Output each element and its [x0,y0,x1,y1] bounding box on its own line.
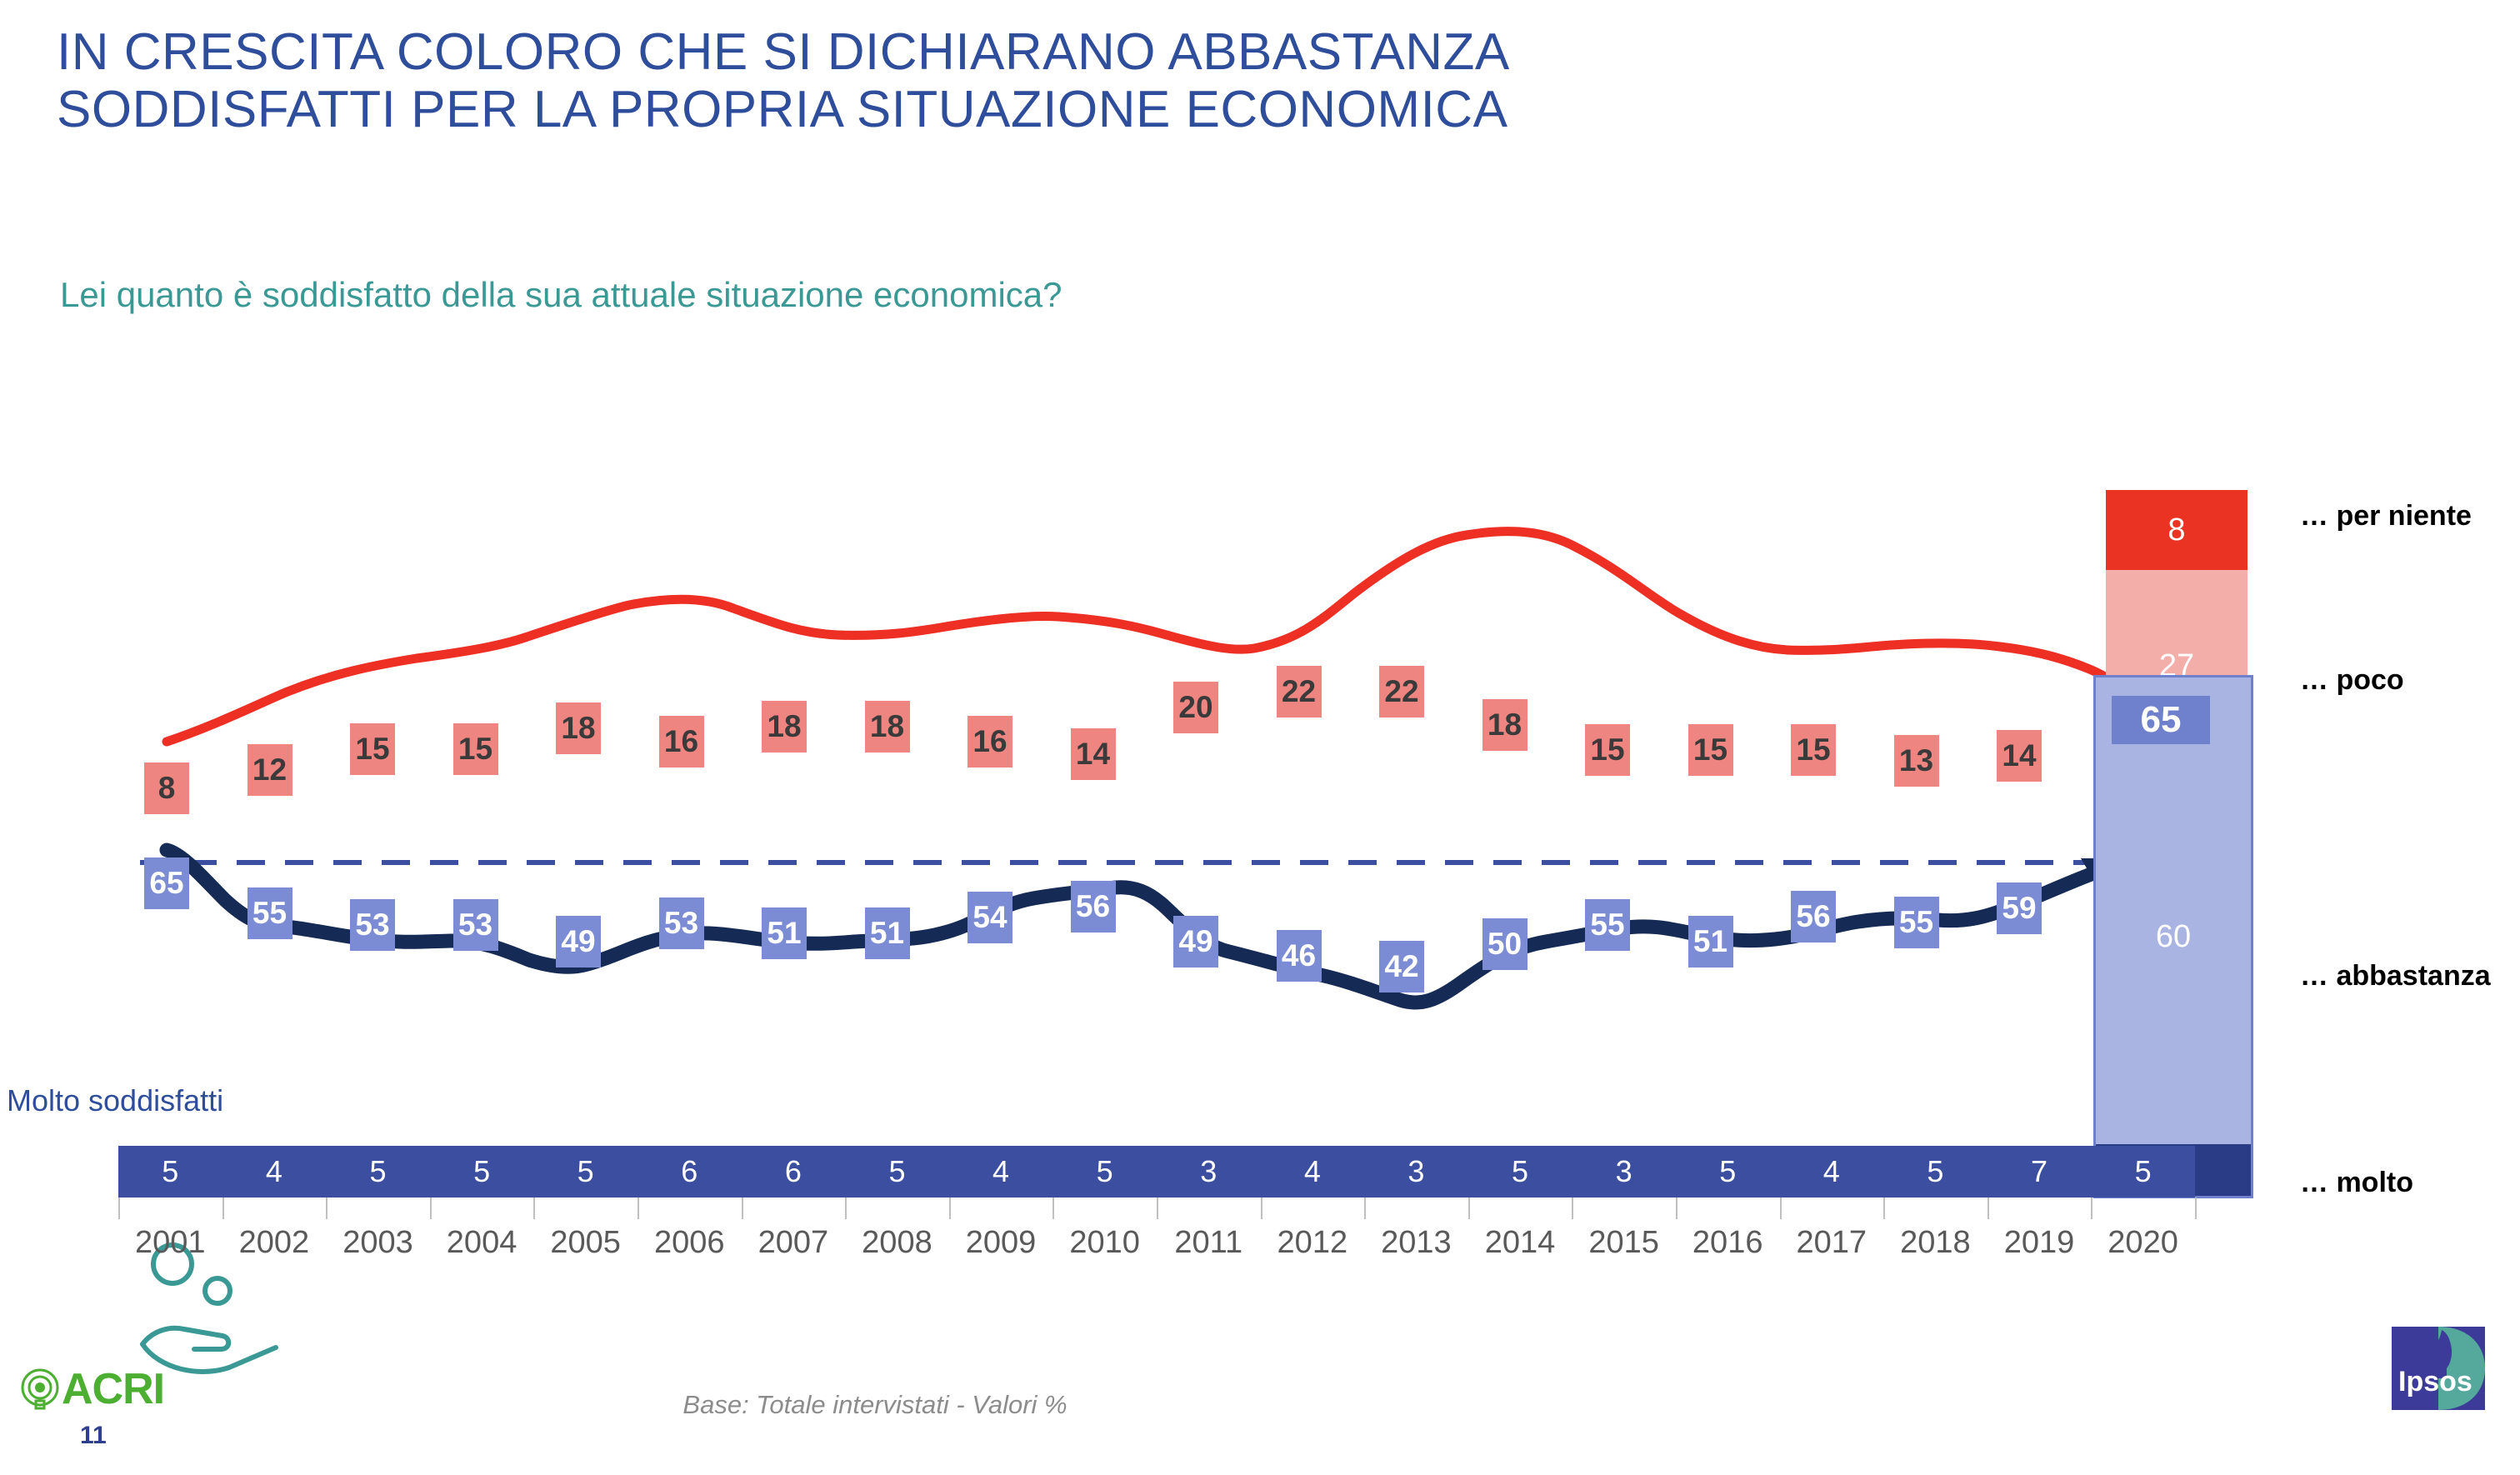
axis-tick [1987,1197,1989,1219]
molto-value-cell: 5 [118,1146,222,1197]
question-subtitle: Lei quanto è soddisfatto della sua attua… [60,275,1062,315]
navy-value-chip: 53 [350,899,395,951]
navy-value-chip: 49 [556,916,601,967]
x-axis-year-label: 2008 [845,1225,949,1275]
ipsos-wordmark: Ipsos [2398,1366,2472,1398]
axis-tick [2195,1197,2197,1219]
page-number: 11 [80,1422,107,1450]
axis-tick [742,1197,743,1219]
molto-value-cell: 5 [1052,1146,1157,1197]
molto-value-cell: 7 [1987,1146,2092,1197]
red-value-chip: 14 [1997,730,2042,782]
molto-value-cell: 4 [1780,1146,1884,1197]
axis-tick [326,1197,327,1219]
legend-molto: … molto [2300,1167,2413,1199]
molto-value-cell: 6 [637,1146,742,1197]
x-axis-year-label: 2014 [1468,1225,1572,1275]
navy-value-chip: 53 [453,899,498,951]
x-axis-year-label: 2012 [1261,1225,1365,1275]
red-value-chip: 15 [1688,724,1733,776]
axis-tick [118,1197,120,1219]
x-axis-year-label: 2009 [949,1225,1053,1275]
axis-tick [1468,1197,1470,1219]
x-axis-year-label: 2007 [742,1225,846,1275]
axis-tick [1883,1197,1885,1219]
x-axis-year-label: 2013 [1364,1225,1468,1275]
ipsos-logo: Ipsos [2392,1327,2485,1410]
bar-segment-abbastanza-container: 60 5 [2093,675,2253,1198]
molto-value-cell: 5 [1676,1146,1780,1197]
red-value-chip: 18 [1482,699,1527,751]
x-axis-years: 2001200220032004200520062007200820092010… [118,1225,2195,1275]
molto-value-cell: 5 [2091,1146,2195,1197]
axis-ticks [118,1197,2195,1219]
navy-value-chip: 42 [1379,941,1424,992]
axis-tick [430,1197,432,1219]
red-value-chip: 13 [1894,735,1939,787]
molto-value-cell: 5 [1468,1146,1572,1197]
red-value-chip: 15 [1791,724,1836,776]
x-axis-year-label: 2015 [1572,1225,1676,1275]
red-value-chip: 22 [1379,666,1424,717]
axis-tick [2091,1197,2092,1219]
x-axis-year-label: 2016 [1676,1225,1780,1275]
navy-value-chip: 56 [1791,891,1836,942]
molto-value-cell: 4 [222,1146,327,1197]
navy-value-chip: 65 [144,857,189,909]
red-value-chip: 20 [1173,682,1218,733]
x-axis-year-label: 2006 [637,1225,742,1275]
molto-value-cell: 4 [1261,1146,1365,1197]
axis-tick [845,1197,847,1219]
molto-value-cell: 3 [1364,1146,1468,1197]
x-axis-year-label: 2004 [430,1225,534,1275]
axis-tick [1052,1197,1054,1219]
navy-value-chip: 49 [1173,916,1218,967]
x-axis-year-label: 2003 [326,1225,430,1275]
bar-total-positive-label: 65 [2112,696,2210,744]
navy-value-chip: 55 [1585,899,1630,951]
navy-value-chip: 59 [1997,882,2042,934]
molto-soddisfatti-label: Molto soddisfatti [7,1083,223,1118]
red-value-chip: 16 [967,716,1012,767]
axis-tick [222,1197,224,1219]
navy-value-chip: 51 [1688,916,1733,967]
navy-value-chip: 56 [1071,881,1116,932]
red-value-chip: 12 [247,744,292,796]
x-axis-year-label: 2020 [2091,1225,2195,1275]
navy-value-chip: 51 [865,907,910,959]
red-value-chip: 8 [144,762,189,814]
bar-segment-abbastanza: 60 [2096,677,2251,1196]
molto-value-cell: 5 [1883,1146,1987,1197]
x-axis-year-label: 2017 [1780,1225,1884,1275]
navy-value-chip: 53 [659,897,704,949]
red-value-chip: 18 [556,702,601,754]
x-axis-year-label: 2018 [1883,1225,1987,1275]
navy-value-chip: 55 [1894,897,1939,948]
molto-value-cell: 4 [949,1146,1053,1197]
page-title: IN CRESCITA COLORO CHE SI DICHIARANO ABB… [57,23,2348,139]
bar-segment-per-niente: 8 [2106,490,2247,570]
x-axis-year-label: 2002 [222,1225,327,1275]
molto-value-cell: 5 [326,1146,430,1197]
molto-value-cell: 5 [533,1146,637,1197]
axis-tick [949,1197,951,1219]
molto-values-band: 54555665453435354575 [118,1146,2195,1197]
red-value-chip: 15 [350,723,395,775]
legend-per-niente: … per niente [2300,500,2472,532]
red-value-chip: 18 [865,701,910,752]
axis-tick [1780,1197,1782,1219]
red-value-chip: 15 [453,723,498,775]
x-axis-year-label: 2019 [1987,1225,2092,1275]
x-axis-year-label: 2011 [1157,1225,1261,1275]
molto-value-cell: 3 [1572,1146,1676,1197]
navy-value-chip: 50 [1482,918,1527,970]
axis-tick [1676,1197,1677,1219]
axis-tick [1572,1197,1573,1219]
navy-value-chip: 46 [1277,930,1322,982]
red-value-chip: 18 [762,701,807,752]
red-value-chip: 16 [659,716,704,767]
axis-tick [533,1197,535,1219]
x-axis-year-label: 2001 [118,1225,222,1275]
legend-poco: … poco [2300,664,2404,697]
navy-value-chip: 54 [967,892,1012,943]
molto-value-cell: 5 [430,1146,534,1197]
red-value-chip: 15 [1585,724,1630,776]
legend-abbastanza: … abbastanza [2300,960,2491,992]
title-line-1: IN CRESCITA COLORO CHE SI DICHIARANO ABB… [57,23,1510,81]
red-value-chip: 22 [1277,666,1322,717]
axis-tick [1261,1197,1262,1219]
slide: IN CRESCITA COLORO CHE SI DICHIARANO ABB… [0,0,2520,1475]
axis-tick [637,1197,639,1219]
navy-value-chip: 55 [247,887,292,939]
title-line-2: SODDISFATTI PER LA PROPRIA SITUAZIONE EC… [57,81,2348,138]
base-note: Base: Totale intervistati - Valori % [0,1390,1750,1420]
x-axis-year-label: 2010 [1052,1225,1157,1275]
navy-value-chip: 51 [762,907,807,959]
axis-tick [1364,1197,1366,1219]
x-axis-year-label: 2005 [533,1225,637,1275]
molto-value-cell: 3 [1157,1146,1261,1197]
red-value-chip: 14 [1071,728,1116,780]
molto-value-cell: 6 [742,1146,846,1197]
molto-value-cell: 5 [845,1146,949,1197]
axis-tick [1157,1197,1158,1219]
